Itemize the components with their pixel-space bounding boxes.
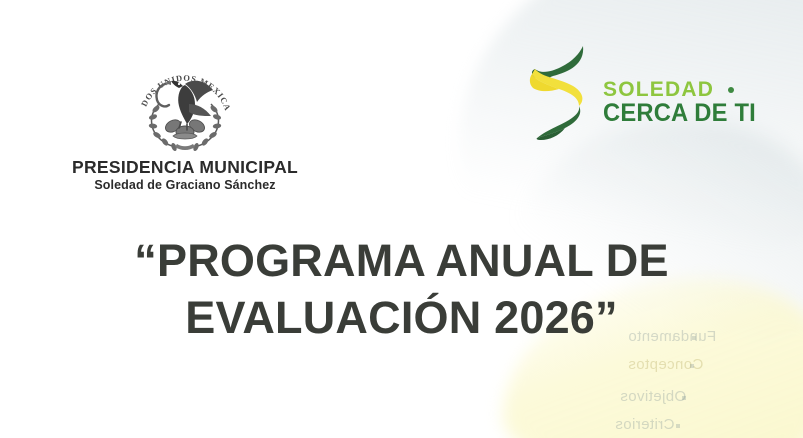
presidencia-title: PRESIDENCIA MUNICIPAL [60, 158, 310, 177]
soledad-s-ribbon-icon [525, 42, 595, 142]
bleed-through-bullet-3 [682, 396, 686, 400]
municipality-subtitle: Soledad de Graciano Sánchez [60, 179, 310, 193]
bleed-through-bullet-4 [676, 424, 680, 428]
bleed-through-text-4: Criterios [615, 416, 674, 433]
presidencia-header-block: ESTADOS UNIDOS MEXICANOS [60, 48, 310, 193]
bleed-through-text-3: Objetivos [620, 388, 686, 405]
soledad-brand-logo: SOLEDAD CERCA DE TI [525, 42, 764, 142]
page-title-line-1: “PROGRAMA ANUAL DE [0, 232, 803, 289]
bleed-through-text-2: Conceptos [628, 356, 703, 373]
mexican-coat-of-arms-icon: ESTADOS UNIDOS MEXICANOS [129, 48, 241, 152]
document-page: Fundamento Conceptos Objetivos Criterios… [0, 0, 803, 438]
logo-secondary-text: CERCA DE TI [603, 101, 756, 126]
logo-primary-text: SOLEDAD [603, 79, 714, 100]
page-title: “PROGRAMA ANUAL DE EVALUACIÓN 2026” [0, 232, 803, 346]
page-title-line-2: EVALUACIÓN 2026” [0, 289, 803, 346]
bleed-through-bullet-2 [690, 364, 694, 368]
logo-dot-icon [728, 87, 734, 93]
soledad-logo-text: SOLEDAD CERCA DE TI [603, 79, 764, 126]
